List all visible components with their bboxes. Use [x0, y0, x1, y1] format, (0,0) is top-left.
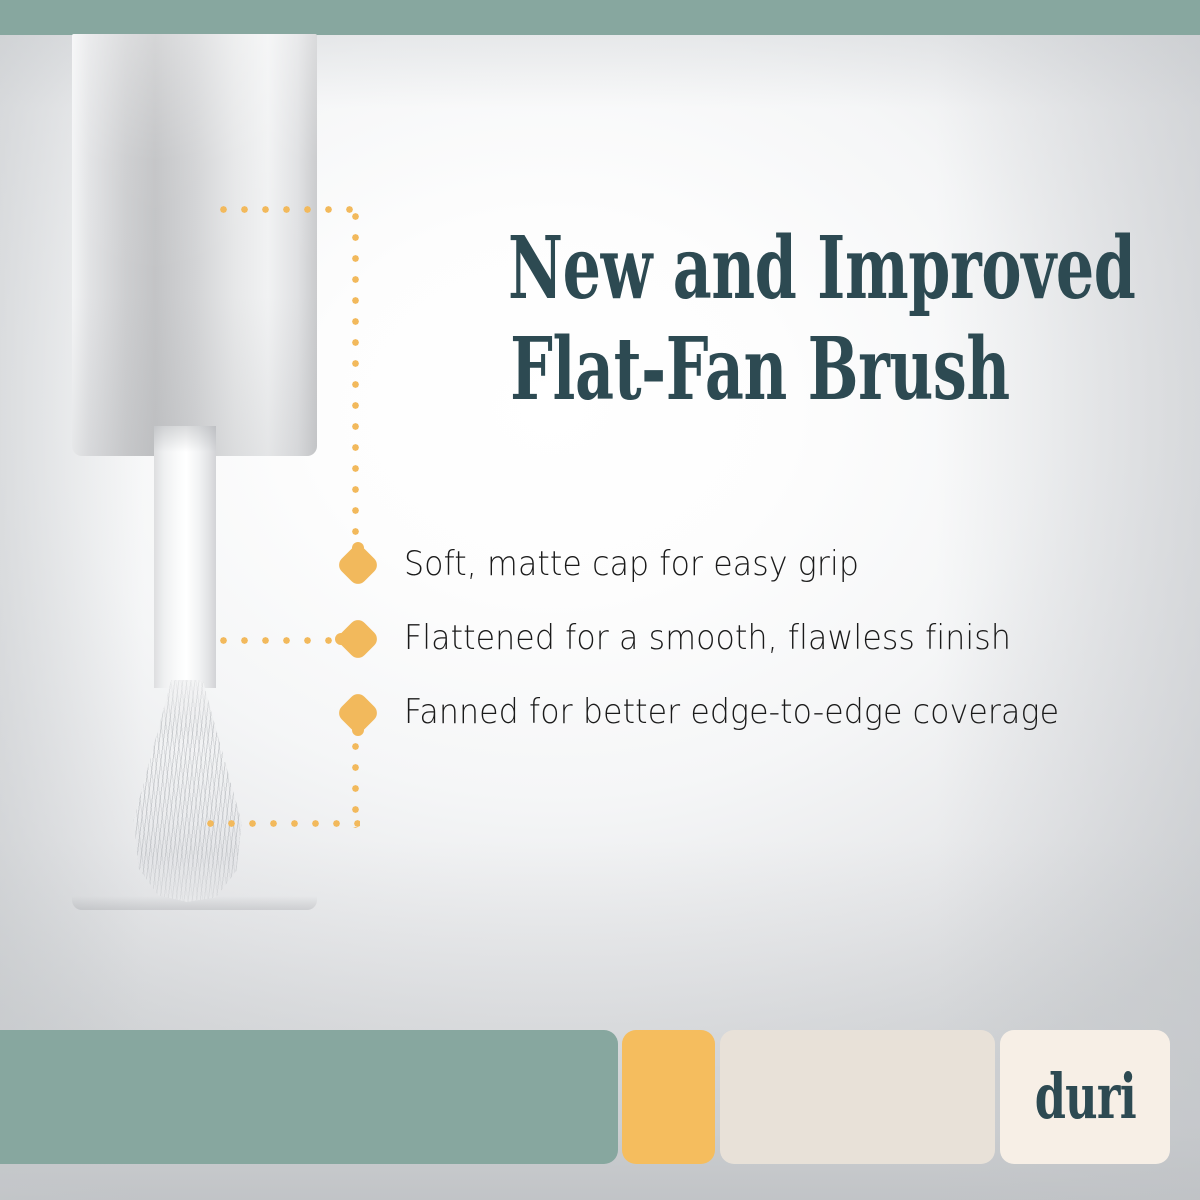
feature-label-flattened: Flattened for a smooth, flawless finish	[404, 620, 1011, 657]
list-item: Soft, matte cap for easy grip	[330, 528, 1160, 602]
palette-swatch-beige	[720, 1030, 995, 1164]
product-photo	[60, 30, 390, 910]
page-title: New and Improved Flat-Fan Brush	[508, 218, 1012, 421]
bullet-diamond-shape	[335, 542, 380, 587]
palette-bar: duri	[0, 1030, 1200, 1164]
marketing-graphic-canvas: New and Improved Flat-Fan Brush Soft, ma…	[0, 0, 1200, 1200]
heading-line-1: New and Improved	[508, 218, 1012, 319]
diamond-bullet-icon	[336, 691, 380, 735]
palette-swatch-amber	[622, 1030, 715, 1164]
connector-bristles-horizontal	[200, 820, 360, 827]
palette-swatch-sage	[0, 1030, 618, 1164]
feature-list: Soft, matte cap for easy grip Flattened …	[330, 528, 1160, 750]
connector-cap-vertical	[352, 206, 359, 558]
cap-sheen	[72, 34, 317, 456]
connector-cap-horizontal	[213, 206, 361, 213]
feature-label-cap: Soft, matte cap for easy grip	[404, 546, 859, 583]
brush-bristles	[122, 680, 252, 902]
bullet-diamond-shape	[335, 616, 380, 661]
bristle-highlight	[122, 680, 252, 902]
bullet-diamond-shape	[335, 690, 380, 735]
polish-cap	[72, 34, 317, 456]
ferrule-top-shadow	[154, 426, 216, 452]
diamond-bullet-icon	[336, 617, 380, 661]
brand-logo-tile: duri	[1000, 1030, 1170, 1164]
list-item: Flattened for a smooth, flawless finish	[330, 602, 1160, 676]
diamond-bullet-icon	[336, 543, 380, 587]
heading-line-2: Flat-Fan Brush	[508, 319, 1012, 420]
brand-logo-text: duri	[1034, 1066, 1135, 1128]
feature-label-fanned: Fanned for better edge-to-edge coverage	[404, 694, 1059, 731]
list-item: Fanned for better edge-to-edge coverage	[330, 676, 1160, 750]
brush-ferrule	[154, 426, 216, 688]
connector-ferrule-horizontal	[213, 637, 348, 644]
